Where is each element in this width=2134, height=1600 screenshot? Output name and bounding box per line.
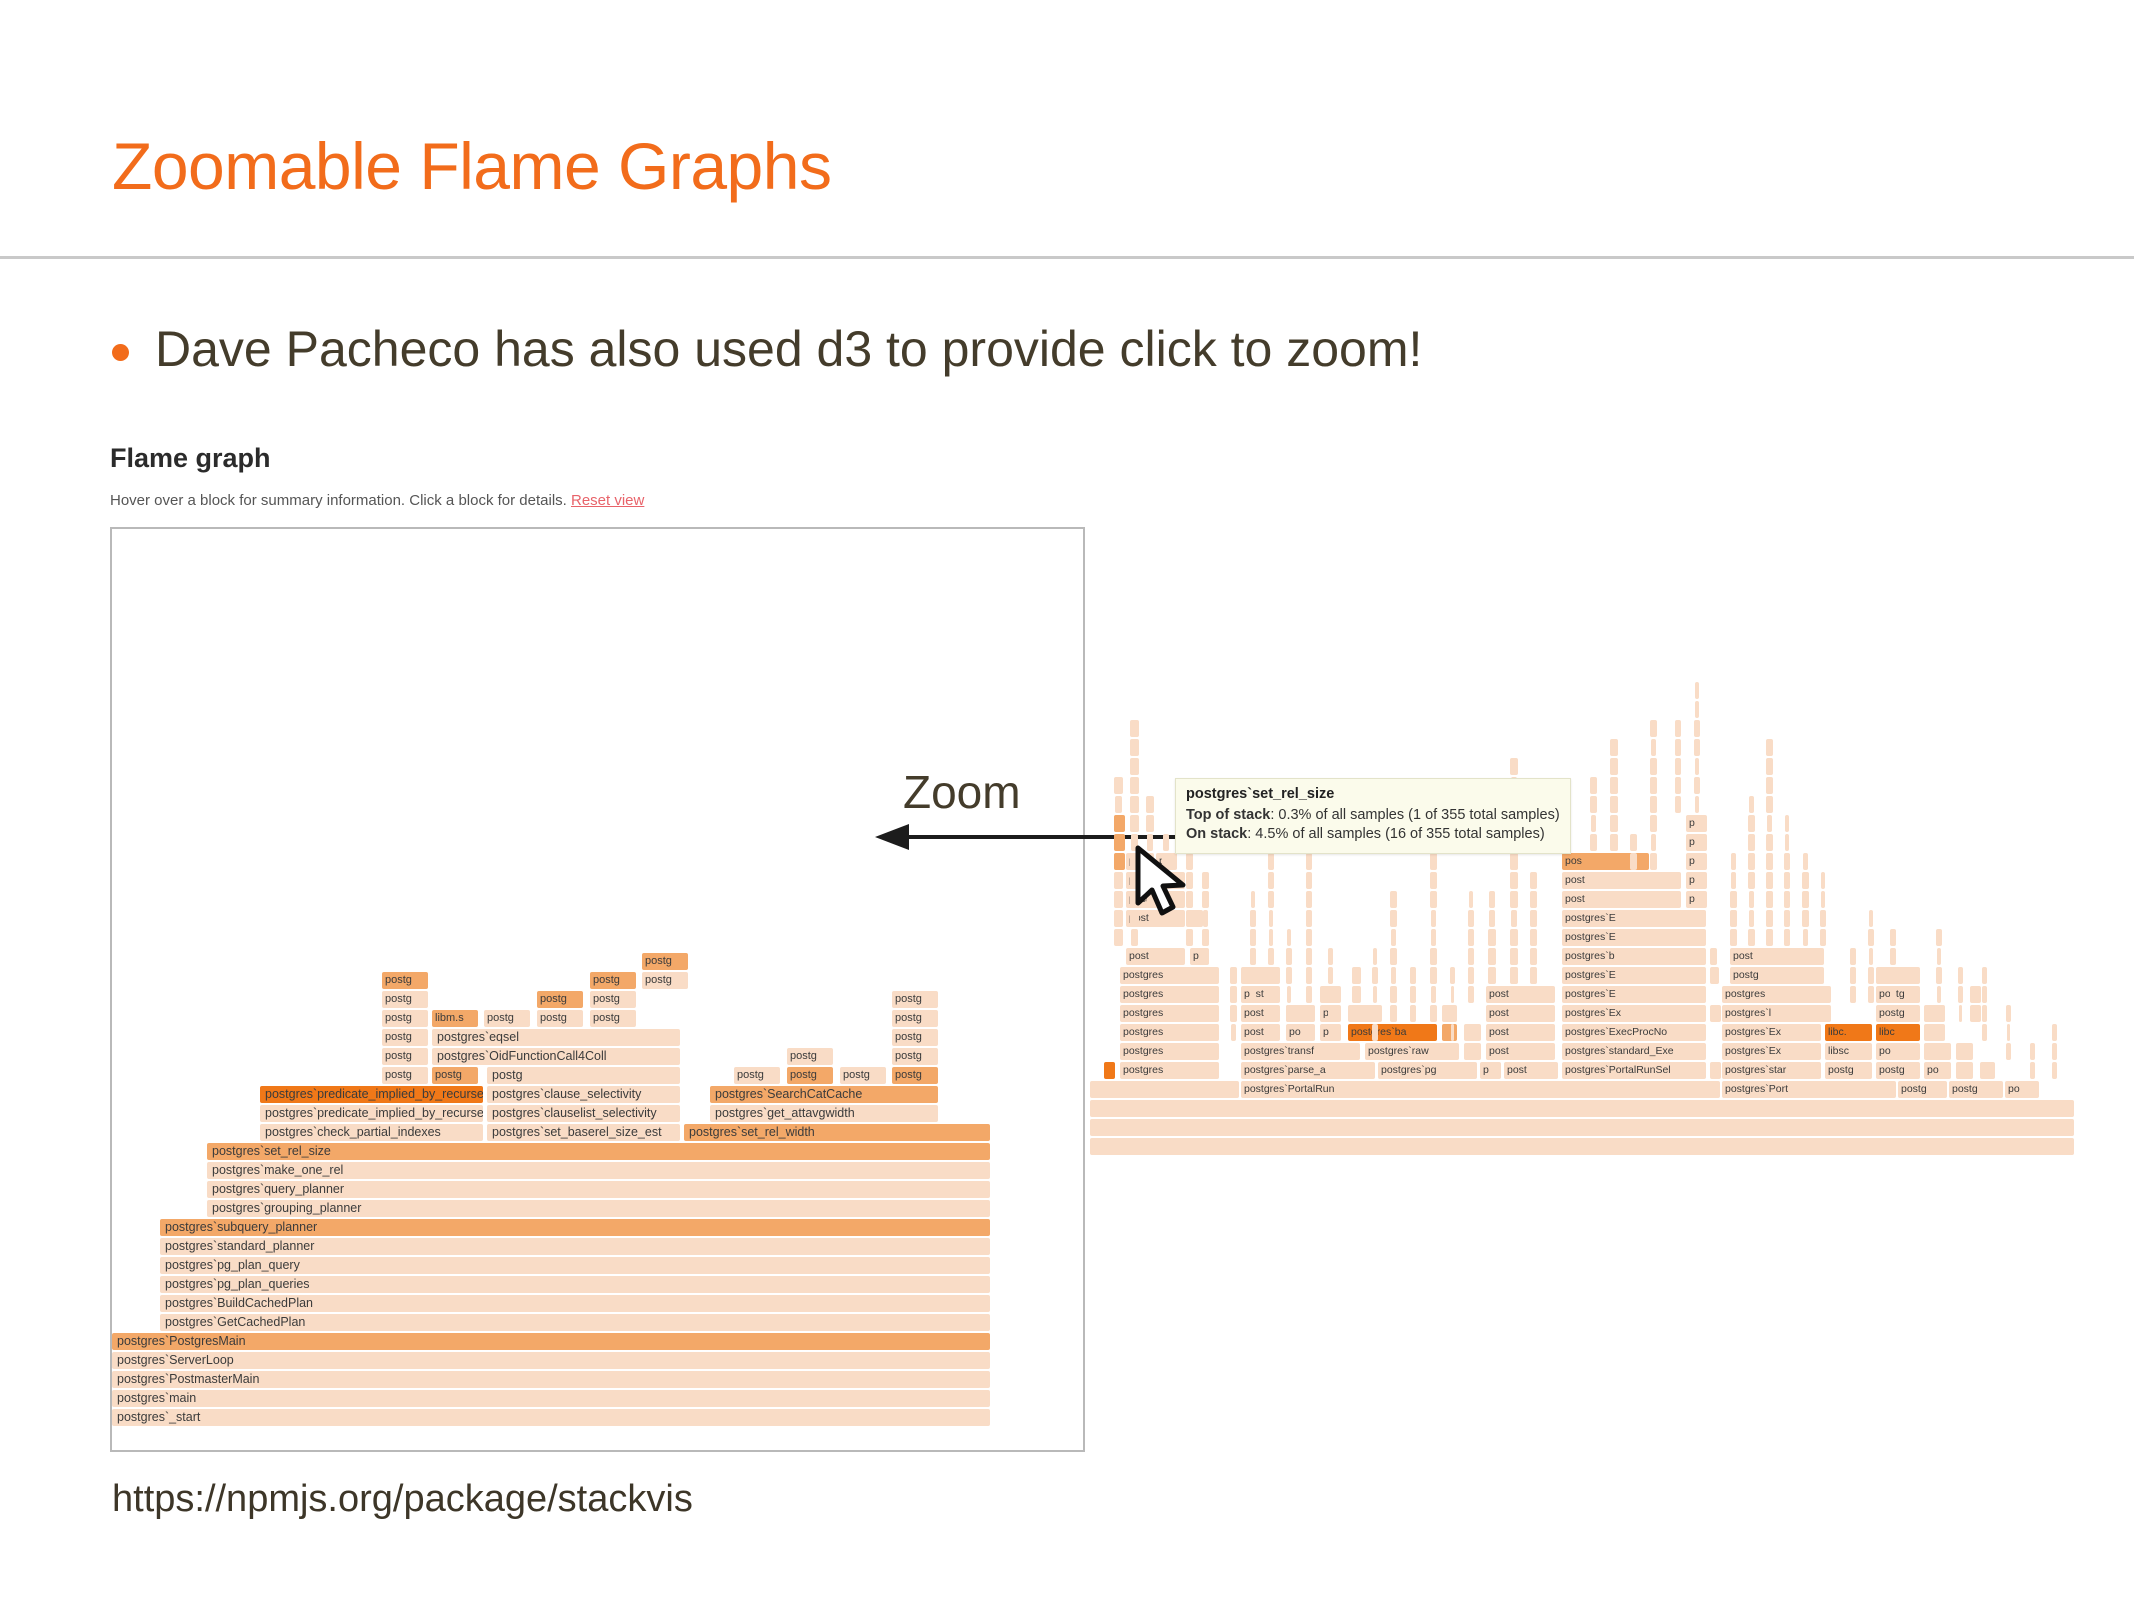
flame-frame[interactable] [1731,853,1736,870]
flame-frame[interactable]: postgres`pg [1378,1062,1477,1079]
flame-frame[interactable]: post [1504,1062,1558,1079]
flame-frame[interactable]: p [1686,853,1707,870]
flame-frame[interactable] [1675,758,1681,775]
flame-frame[interactable] [1230,986,1237,1003]
flame-frame[interactable] [1250,967,1256,984]
flame-frame[interactable] [1468,986,1474,1003]
flame-frame[interactable] [1286,948,1292,965]
flame-frame[interactable] [1970,986,1981,1003]
flame-frame[interactable]: postg [787,1048,833,1065]
flame-frame[interactable] [1821,891,1825,908]
flame-frame[interactable] [1352,986,1361,1003]
flame-frame[interactable] [1468,910,1474,927]
flame-frame[interactable]: postg [840,1067,886,1084]
flame-frame[interactable]: postg [1898,1081,1947,1098]
flame-frame[interactable] [1749,796,1754,813]
flame-frame[interactable] [1488,948,1496,965]
flame-frame[interactable] [1090,1100,2074,1117]
flame-frame[interactable] [1352,1005,1361,1022]
flame-frame[interactable] [1468,967,1474,984]
flame-frame[interactable] [1390,1005,1397,1022]
flame-frame[interactable] [1530,948,1537,965]
flame-frame[interactable]: libsc [1825,1043,1872,1060]
flame-frame[interactable] [1675,796,1681,813]
flame-frame[interactable] [1510,929,1518,946]
flame-frame[interactable]: p [1686,891,1707,908]
flame-frame[interactable]: postgres`E [1562,967,1706,984]
flame-frame[interactable] [1890,929,1896,946]
flame-frame[interactable] [1410,986,1416,1003]
flame-frame[interactable] [1970,1005,1981,1022]
flame-frame[interactable] [1749,910,1754,927]
flame-frame[interactable] [1650,758,1657,775]
flame-frame[interactable] [1488,929,1496,946]
flame-frame[interactable] [1530,967,1537,984]
flame-frame[interactable]: postgres`ba [1348,1024,1437,1041]
flame-frame[interactable] [1695,682,1699,699]
flame-frame[interactable] [1510,758,1518,775]
flame-frame[interactable] [1937,948,1941,965]
flame-frame[interactable]: postgres`standard_planner [160,1238,990,1255]
flame-frame[interactable]: postgres [1722,986,1831,1003]
flame-frame[interactable] [1630,834,1637,851]
flame-frame[interactable] [1748,834,1755,851]
flame-frame[interactable] [1936,929,1942,946]
flame-frame[interactable] [1390,948,1397,965]
flame-frame[interactable] [1090,1138,2074,1155]
flame-frame[interactable] [1850,948,1856,965]
flame-frame[interactable]: postgres`pg_plan_query [160,1257,990,1274]
flame-frame[interactable]: postgres`SearchCatCache [710,1086,938,1103]
flame-frame[interactable] [1306,986,1312,1003]
flame-frame[interactable] [1430,948,1437,965]
flame-frame[interactable] [1785,815,1789,832]
flame-frame[interactable] [1114,910,1123,927]
flame-frame[interactable]: po [1876,1043,1920,1060]
flame-frame[interactable]: postg [787,1067,833,1084]
flame-frame[interactable]: postgres`get_attavgwidth [710,1105,938,1122]
flame-frame[interactable] [2052,1062,2057,1079]
flame-frame[interactable] [1982,1005,1987,1022]
flame-frame[interactable]: postgres`GetCachedPlan [160,1314,990,1331]
flame-frame[interactable]: postgres`eqsel [432,1029,680,1046]
flame-frame[interactable]: postgres`parse_a [1241,1062,1375,1079]
flame-frame[interactable] [1958,986,1963,1003]
flame-frame[interactable] [1410,967,1416,984]
flame-frame[interactable]: postgres [1120,986,1219,1003]
flame-frame[interactable] [1464,1024,1481,1041]
flame-frame[interactable] [1766,853,1773,870]
flame-frame[interactable]: postg [1730,967,1824,984]
flame-frame[interactable] [1510,967,1518,984]
flame-frame[interactable] [1286,967,1292,984]
flame-frame[interactable] [1910,967,1916,984]
flame-frame[interactable] [1268,853,1274,870]
flame-frame[interactable] [1131,929,1138,946]
flame-frame[interactable] [1511,910,1517,927]
flame-frame[interactable] [1710,948,1717,965]
flame-frame[interactable] [2007,1024,2010,1041]
flame-frame[interactable] [1530,872,1537,889]
flame-frame[interactable]: postgres`l [1722,1005,1831,1022]
flame-frame[interactable]: postgres`raw [1365,1043,1459,1060]
flame-frame[interactable]: postgres`PostgresMain [112,1333,990,1350]
flame-frame[interactable]: postgres`check_partial_indexes [260,1124,483,1141]
flame-frame[interactable]: post [1486,1024,1555,1041]
flame-frame[interactable] [1372,1005,1378,1022]
flame-frame[interactable] [1675,720,1681,737]
flame-frame[interactable] [1268,872,1274,889]
flame-frame[interactable]: postgres [1120,967,1219,984]
flame-frame[interactable]: postg [642,953,688,970]
flame-frame[interactable] [1820,910,1826,927]
flame-frame[interactable] [1650,796,1657,813]
flame-frame[interactable] [1749,891,1754,908]
flame-frame[interactable] [1784,929,1790,946]
flame-frame[interactable] [1090,1119,2074,1136]
flame-frame[interactable] [1982,986,1987,1003]
flame-frame[interactable]: postg [382,1067,428,1084]
flame-frame[interactable] [1268,967,1274,984]
flame-frame[interactable]: postgres`subquery_planner [160,1219,990,1236]
flame-frame[interactable] [1803,853,1808,870]
flame-frame[interactable] [1269,929,1273,946]
flame-frame[interactable]: postg [537,1010,583,1027]
flame-frame[interactable] [1748,815,1755,832]
flame-frame[interactable]: postg [1876,1062,1920,1079]
flame-frame[interactable]: postg [382,1010,428,1027]
flame-frame[interactable] [1869,910,1873,927]
flame-frame[interactable] [1269,910,1273,927]
flame-frame[interactable] [1450,1005,1455,1022]
flame-frame[interactable]: postgres`Ex [1722,1043,1821,1060]
flame-frame[interactable] [1675,777,1681,794]
flame-frame[interactable]: postg [484,1010,530,1027]
flame-frame[interactable] [1530,910,1537,927]
flame-frame[interactable]: postg [590,991,636,1008]
flame-frame[interactable] [1130,777,1139,794]
flame-frame[interactable] [1451,1024,1454,1041]
flame-frame[interactable] [1130,739,1139,756]
flame-frame[interactable] [1510,853,1518,870]
flame-frame[interactable]: postgres`star [1722,1062,1821,1079]
flame-frame[interactable] [1186,929,1193,946]
flame-frame[interactable] [1230,1005,1237,1022]
flame-frame[interactable] [1868,967,1874,984]
flame-frame[interactable] [1530,929,1537,946]
flame-frame[interactable] [2030,1043,2035,1060]
flame-frame[interactable] [1766,872,1773,889]
flame-frame[interactable] [1630,853,1637,870]
flame-frame[interactable] [1250,910,1256,927]
flame-frame[interactable] [1868,929,1874,946]
flame-frame[interactable] [1469,891,1473,908]
flame-frame[interactable]: post [1730,948,1824,965]
flame-frame[interactable] [1850,967,1856,984]
flame-frame[interactable] [1694,777,1700,794]
flame-frame[interactable] [1468,929,1474,946]
flame-frame[interactable] [1924,1024,1945,1041]
flame-frame[interactable]: po [1924,1062,1951,1079]
flame-frame[interactable] [1114,815,1125,832]
flame-frame[interactable] [1651,834,1656,851]
flame-frame[interactable]: post [1486,986,1555,1003]
flame-frame[interactable] [1650,777,1657,794]
flame-frame[interactable]: libc. [1825,1024,1872,1041]
flame-frame[interactable]: postg [892,991,938,1008]
flame-frame[interactable] [1530,891,1537,908]
flame-frame[interactable] [1306,910,1312,927]
flame-frame[interactable] [1767,815,1772,832]
flame-frame[interactable] [1306,891,1312,908]
flame-frame[interactable] [1610,834,1618,851]
flame-frame[interactable] [1784,891,1790,908]
flame-frame[interactable]: postgres`clauselist_selectivity [487,1105,680,1122]
flame-frame[interactable] [1114,891,1123,908]
flame-frame[interactable]: postgres`set_rel_size [207,1143,990,1160]
flame-frame[interactable] [1202,872,1209,889]
flame-frame[interactable]: postgres`PostmasterMain [112,1371,990,1388]
flame-frame[interactable] [1306,929,1312,946]
flame-frame[interactable]: postg [382,991,428,1008]
flame-frame[interactable]: p [1686,872,1707,889]
flame-frame[interactable] [1430,891,1437,908]
flame-frame[interactable] [1631,872,1636,889]
flame-frame[interactable]: postgres`transf [1241,1043,1360,1060]
flame-frame[interactable] [1956,1043,1973,1060]
flame-frame[interactable] [1373,948,1377,965]
flame-frame[interactable] [1488,967,1496,984]
flame-frame[interactable] [1910,986,1916,1003]
flame-frame[interactable] [1328,1005,1333,1022]
flame-frame[interactable] [1821,872,1825,889]
flame-frame[interactable] [1710,1062,1721,1079]
flame-frame[interactable] [1372,1024,1378,1041]
flame-frame[interactable] [1890,986,1896,1003]
flame-frame[interactable] [1710,967,1719,984]
flame-frame[interactable]: postgres`make_one_rel [207,1162,990,1179]
flame-frame[interactable] [1442,1024,1457,1041]
flame-frame[interactable] [1610,758,1618,775]
flame-frame[interactable]: postgres`clause_selectivity [487,1086,680,1103]
flame-frame[interactable] [1269,986,1273,1003]
flame-frame[interactable]: postgres`E [1562,929,1706,946]
flame-frame[interactable] [1980,1062,1995,1079]
flame-frame[interactable] [1250,948,1256,965]
flame-frame[interactable] [1650,853,1657,870]
flame-frame[interactable] [1104,1062,1115,1079]
flame-frame[interactable] [1890,948,1896,965]
flame-frame[interactable] [1675,739,1681,756]
flame-frame[interactable] [1590,777,1597,794]
flame-frame[interactable] [1610,815,1618,832]
flame-frame[interactable] [1287,986,1291,1003]
flame-frame[interactable] [1431,986,1436,1003]
flame-frame[interactable] [1958,967,1963,984]
flame-frame[interactable] [1694,720,1700,737]
flame-frame[interactable]: postgres`Ex [1562,1005,1706,1022]
flame-frame[interactable]: post [1486,1043,1555,1060]
flame-frame[interactable] [1231,1024,1236,1041]
flame-frame[interactable]: postgres [1120,1043,1219,1060]
flame-frame[interactable] [1802,891,1809,908]
flame-frame[interactable]: post [1241,1005,1280,1022]
flame-frame[interactable] [1430,853,1437,870]
flame-frame[interactable] [1590,834,1597,851]
flame-frame[interactable]: libm.s [432,1010,478,1027]
flame-frame[interactable] [1695,701,1699,718]
flame-frame[interactable] [1651,739,1656,756]
flame-frame[interactable]: postg [734,1067,780,1084]
flame-frame[interactable] [2006,1005,2011,1022]
flame-frame[interactable] [1730,910,1737,927]
flame-frame[interactable]: post [1241,986,1280,1003]
flame-frame[interactable] [1130,796,1139,813]
flame-frame[interactable] [1328,967,1333,984]
flame-frame[interactable] [1130,815,1139,832]
flame-frame[interactable] [1937,986,1941,1003]
flame-frame[interactable] [1868,986,1874,1003]
flame-frame[interactable] [1766,796,1773,813]
flame-frame[interactable]: postgres [1120,1024,1219,1041]
flame-frame[interactable]: postgres`predicate_implied_by_recurse [260,1086,483,1103]
flame-frame[interactable]: postgres`query_planner [207,1181,990,1198]
flame-frame[interactable]: postgres [1120,1005,1219,1022]
flame-frame[interactable] [1937,1005,1941,1022]
flame-frame[interactable]: postgres`OidFunctionCall4Coll [432,1048,680,1065]
flame-frame[interactable] [1390,986,1397,1003]
flame-frame[interactable]: postg [642,972,688,989]
flame-frame[interactable]: postg [892,1048,938,1065]
flame-frame[interactable]: post [1562,891,1681,908]
flame-frame[interactable]: postg [382,1048,428,1065]
flame-frame[interactable] [1766,929,1773,946]
flame-frame[interactable] [1306,948,1312,965]
flame-frame[interactable] [1202,891,1209,908]
flame-frame[interactable] [1451,986,1454,1003]
flame-frame[interactable] [1710,1005,1721,1022]
flame-frame[interactable] [1306,967,1312,984]
flame-frame[interactable]: postgres`BuildCachedPlan [160,1295,990,1312]
flame-frame[interactable] [1748,872,1755,889]
flame-frame[interactable]: po [2005,1081,2039,1098]
flame-frame[interactable] [1766,910,1773,927]
flame-frame[interactable] [1610,777,1618,794]
flame-frame[interactable] [1373,986,1377,1003]
flame-frame[interactable] [1694,739,1700,756]
flame-frame[interactable] [1785,834,1789,851]
flame-frame[interactable]: postgres`Port [1722,1081,1896,1098]
flame-frame[interactable]: libc [1876,1024,1920,1041]
flame-frame[interactable]: postgres`b [1562,948,1706,965]
flame-frame[interactable] [1936,967,1942,984]
flame-frame[interactable]: postgres`E [1562,986,1706,1003]
flame-frame[interactable]: postg [382,1029,428,1046]
flame-frame[interactable] [1352,967,1361,984]
flame-frame[interactable] [1924,1043,1951,1060]
flame-frame[interactable] [1203,910,1208,927]
flame-frame[interactable]: postg [432,1067,478,1084]
flame-frame[interactable] [1287,929,1291,946]
flame-frame[interactable]: po [1286,1024,1315,1041]
flame-frame[interactable]: postg [382,972,428,989]
flame-frame[interactable]: p [1320,1024,1341,1041]
flame-frame[interactable]: postgres`set_rel_width [684,1124,990,1141]
flame-frame[interactable] [1695,796,1699,813]
flame-frame[interactable] [1650,815,1657,832]
flame-frame[interactable]: postg [1949,1081,2003,1098]
flame-frame[interactable] [2006,1043,2011,1060]
flame-frame[interactable]: p [1480,1062,1501,1079]
flame-frame[interactable]: p [1190,948,1209,965]
flame-frame[interactable] [1202,929,1209,946]
flame-frame[interactable] [1869,948,1873,965]
flame-frame[interactable]: postgres`_start [112,1409,990,1426]
flame-frame[interactable] [1510,891,1518,908]
flame-frame[interactable] [1251,891,1255,908]
flame-frame[interactable]: postgres`predicate_implied_by_recurse [260,1105,483,1122]
flame-frame[interactable] [1730,929,1737,946]
flame-frame[interactable] [1431,910,1436,927]
flame-frame[interactable]: postgres`PortalRunSel [1562,1062,1706,1079]
flame-frame[interactable] [1328,948,1333,965]
flame-frame[interactable] [1230,967,1237,984]
flame-frame[interactable]: postgres`pg_plan_queries [160,1276,990,1293]
flame-frame[interactable]: postg [892,1029,938,1046]
flame-frame[interactable] [1956,1062,1973,1079]
flame-graph-canvas-left[interactable]: postgres`_startpostgres`mainpostgres`Pos… [112,529,1083,1450]
flame-frame[interactable] [1850,986,1856,1003]
flame-frame[interactable]: postgres`Ex [1722,1024,1821,1041]
flame-frame[interactable] [1464,1043,1481,1060]
flame-frame[interactable] [1590,796,1597,813]
flame-frame[interactable] [1766,834,1773,851]
flame-frame[interactable]: postgres [1120,1062,1219,1079]
flame-frame[interactable]: post [1241,1024,1280,1041]
flame-frame[interactable] [1431,929,1436,946]
flame-frame[interactable]: postg [1825,1062,1872,1079]
flame-frame[interactable] [1250,929,1256,946]
flame-frame[interactable] [1286,1005,1292,1022]
flame-frame[interactable] [1489,910,1495,927]
flame-frame[interactable] [1731,872,1736,889]
flame-frame[interactable]: postgres`PortalRun [1241,1081,1720,1098]
flame-frame[interactable]: postgres`set_baserel_size_est [487,1124,680,1141]
flame-frame[interactable] [1250,986,1256,1003]
flame-frame[interactable] [1114,777,1123,794]
flame-frame[interactable] [1510,948,1518,965]
flame-frame[interactable] [1146,815,1154,832]
flame-frame[interactable] [1890,967,1896,984]
flame-frame[interactable] [1372,967,1378,984]
flame-frame[interactable]: postg [537,991,583,1008]
flame-frame[interactable] [1430,872,1437,889]
flame-frame[interactable]: postg [892,1067,938,1084]
flame-frame[interactable]: post [1562,872,1681,889]
flame-frame[interactable]: postgres`E [1562,910,1706,927]
flame-frame[interactable] [1114,929,1123,946]
flame-frame[interactable]: postg [590,972,636,989]
flame-frame[interactable] [1114,834,1125,851]
flame-frame[interactable] [1306,853,1312,870]
reset-view-link[interactable]: Reset view [571,492,644,509]
flame-frame[interactable] [1450,967,1455,984]
flame-frame[interactable] [1130,720,1139,737]
flame-frame[interactable] [1982,1024,1987,1041]
flame-frame[interactable] [1766,891,1773,908]
flame-frame[interactable] [1695,758,1699,775]
flame-frame[interactable] [1430,967,1437,984]
